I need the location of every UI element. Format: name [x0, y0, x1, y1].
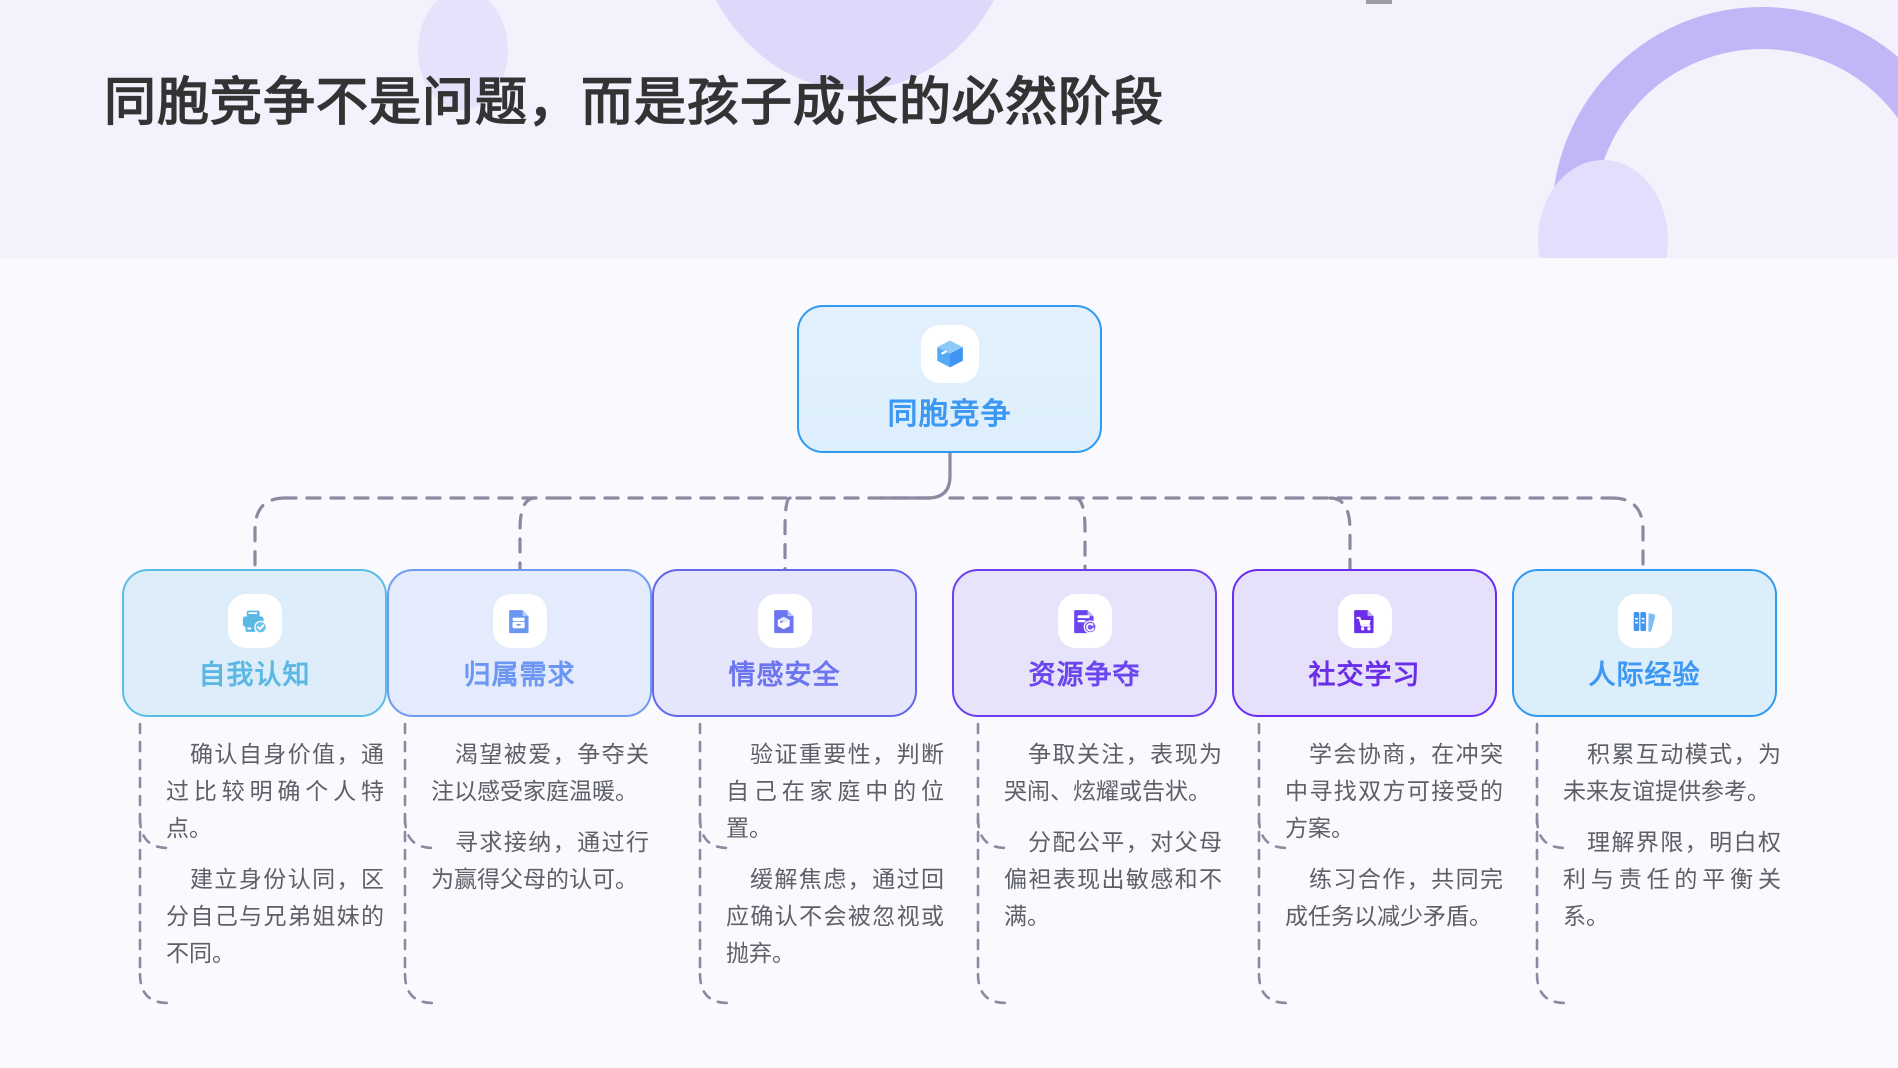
- branch-desc-2: 渴望被爱，争夺关注以感受家庭温暖。 寻求接纳，通过行为赢得父母的认可。: [431, 736, 649, 898]
- branch-label-2: 归属需求: [464, 653, 576, 692]
- branch-card-1[interactable]: 自我认知: [122, 569, 387, 717]
- printer-check-icon: [228, 594, 282, 648]
- branch-label-1: 自我认知: [199, 653, 311, 692]
- archive-doc-icon: [493, 594, 547, 648]
- desc-item: 验证重要性，判断自己在家庭中的位置。: [726, 736, 944, 847]
- doc-return-icon: [1058, 594, 1112, 648]
- desc-item: 分配公平，对父母偏袒表现出敏感和不满。: [1004, 824, 1222, 935]
- root-label: 同胞竞争: [888, 389, 1012, 433]
- desc-item: 渴望被爱，争夺关注以感受家庭温暖。: [431, 736, 649, 810]
- branch-desc-3: 验证重要性，判断自己在家庭中的位置。 缓解焦虑，通过回应确认不会被忽视或抛弃。: [726, 736, 944, 972]
- branch-card-4[interactable]: 资源争夺: [952, 569, 1217, 717]
- cube-icon: [921, 325, 979, 383]
- desc-item: 确认自身价值，通过比较明确个人特点。: [166, 736, 384, 847]
- branch-desc-1: 确认自身价值，通过比较明确个人特点。 建立身份认同，区分自己与兄弟姐妹的不同。: [166, 736, 384, 972]
- desc-item: 理解界限，明白权利与责任的平衡关系。: [1563, 824, 1781, 935]
- header-tick-mark-icon: [1366, 0, 1392, 4]
- branch-card-6[interactable]: 人际经验: [1512, 569, 1777, 717]
- branch-desc-5: 学会协商，在冲突中寻找双方可接受的方案。 练习合作，共同完成任务以减少矛盾。: [1285, 736, 1503, 935]
- cart-doc-icon: [1338, 594, 1392, 648]
- mindmap-page: 同胞竞争不是问题，而是孩子成长的必然阶段: [0, 0, 1898, 1068]
- branch-label-3: 情感安全: [729, 653, 841, 692]
- branch-desc-4: 争取关注，表现为哭闹、炫耀或告状。 分配公平，对父母偏袒表现出敏感和不满。: [1004, 736, 1222, 935]
- desc-item: 积累互动模式，为未来友谊提供参考。: [1563, 736, 1781, 810]
- root-node[interactable]: 同胞竞争: [797, 305, 1102, 453]
- desc-item: 寻求接纳，通过行为赢得父母的认可。: [431, 824, 649, 898]
- books-icon: [1618, 594, 1672, 648]
- branch-label-5: 社交学习: [1309, 653, 1421, 692]
- desc-item: 学会协商，在冲突中寻找双方可接受的方案。: [1285, 736, 1503, 847]
- cube-doc-icon: [758, 594, 812, 648]
- mindmap-canvas: 同胞竞争 自我认知: [0, 258, 1898, 1068]
- branch-card-3[interactable]: 情感安全: [652, 569, 917, 717]
- branch-card-2[interactable]: 归属需求: [387, 569, 652, 717]
- desc-item: 争取关注，表现为哭闹、炫耀或告状。: [1004, 736, 1222, 810]
- branch-label-6: 人际经验: [1589, 653, 1701, 692]
- desc-item: 建立身份认同，区分自己与兄弟姐妹的不同。: [166, 861, 384, 972]
- desc-item: 缓解焦虑，通过回应确认不会被忽视或抛弃。: [726, 861, 944, 972]
- page-header: 同胞竞争不是问题，而是孩子成长的必然阶段: [0, 0, 1898, 258]
- branch-card-5[interactable]: 社交学习: [1232, 569, 1497, 717]
- desc-item: 练习合作，共同完成任务以减少矛盾。: [1285, 861, 1503, 935]
- page-title: 同胞竞争不是问题，而是孩子成长的必然阶段: [104, 60, 1164, 135]
- branch-label-4: 资源争夺: [1029, 653, 1141, 692]
- branch-desc-6: 积累互动模式，为未来友谊提供参考。 理解界限，明白权利与责任的平衡关系。: [1563, 736, 1781, 935]
